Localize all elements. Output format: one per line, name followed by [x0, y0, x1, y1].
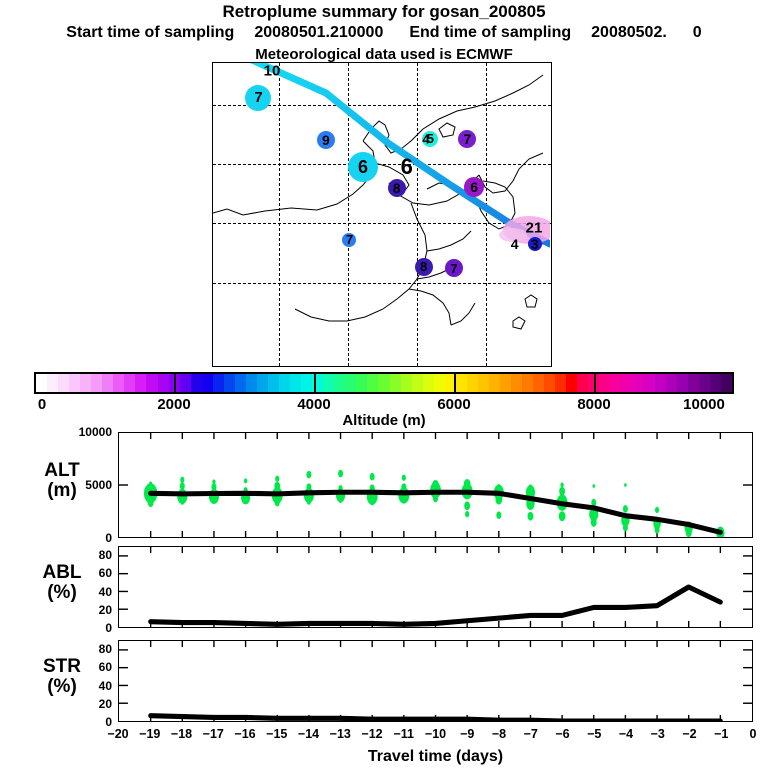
alt-ytick-5000: 5000 [85, 478, 112, 492]
alt-ytick-0: 0 [105, 531, 112, 545]
colorbar-swatch-0 [36, 374, 47, 392]
colorbar-swatch-39 [467, 374, 478, 392]
colorbar-tick-6000: 6000 [437, 396, 470, 413]
colorbar-swatch-1 [47, 374, 58, 392]
map-marker-8-5: 8 [388, 179, 406, 197]
map-marker-10-0: 10 [264, 63, 281, 78]
colorbar-swatch-20 [257, 374, 268, 392]
x-tick--14: −14 [298, 727, 319, 741]
x-tick-0: 0 [750, 727, 757, 741]
colorbar-swatch-33 [401, 374, 412, 392]
colorbar-swatch-56 [655, 374, 666, 392]
abl-panel [118, 546, 753, 628]
colorbar-swatch-28 [345, 374, 356, 392]
colorbar-swatch-54 [633, 374, 644, 392]
colorbar-swatch-60 [699, 374, 710, 392]
x-tick--19: −19 [139, 727, 160, 741]
retroplume-map: 107966854767871234 [212, 62, 552, 367]
str-ytick-20: 20 [99, 697, 112, 711]
colorbar-tick-4000: 4000 [297, 396, 330, 413]
str-panel [118, 640, 753, 722]
colorbar-swatch-10 [146, 374, 157, 392]
alt-panel [118, 432, 753, 538]
colorbar-swatch-36 [434, 374, 445, 392]
colorbar-swatch-18 [235, 374, 246, 392]
x-tick--16: −16 [234, 727, 255, 741]
abl-ytick-80: 80 [99, 548, 112, 562]
abl-ytick-0: 0 [105, 621, 112, 635]
str-axis-label: STR (%) [14, 657, 110, 697]
colorbar-swatch-3 [69, 374, 80, 392]
abl-ytick-20: 20 [99, 603, 112, 617]
colorbar-divider-1 [314, 372, 316, 394]
str-ytick-60: 60 [99, 660, 112, 674]
colorbar-swatch-26 [323, 374, 334, 392]
colorbar-swatch-45 [533, 374, 544, 392]
alt-plot-content [119, 433, 752, 537]
map-marker-6-9: 6 [464, 177, 484, 197]
colorbar-swatch-43 [511, 374, 522, 392]
colorbar-swatch-35 [423, 374, 434, 392]
colorbar-swatch-61 [710, 374, 721, 392]
colorbar-swatch-11 [158, 374, 169, 392]
map-marker-6-3: 6 [348, 152, 378, 182]
x-tick--13: −13 [330, 727, 351, 741]
colorbar-swatch-59 [688, 374, 699, 392]
end-time-label: End time of sampling [409, 24, 571, 41]
colorbar-swatch-15 [202, 374, 213, 392]
x-tick--8: −8 [492, 727, 506, 741]
colorbar-divider-2 [454, 372, 456, 394]
colorbar-swatch-5 [91, 374, 102, 392]
colorbar-swatch-57 [666, 374, 677, 392]
colorbar-swatch-16 [213, 374, 224, 392]
retroplume-summary-figure: Retroplume summary for gosan_200805 Star… [0, 0, 768, 768]
colorbar-swatch-52 [610, 374, 621, 392]
colorbar-tick-10000: 10000 [683, 396, 725, 413]
abl-ytick-60: 60 [99, 566, 112, 580]
colorbar-swatch-58 [677, 374, 688, 392]
map-marker-3-15: 3 [528, 237, 542, 251]
x-tick--4: −4 [619, 727, 633, 741]
x-tick--3: −3 [651, 727, 665, 741]
map-marker-4-7: 4 [422, 132, 429, 145]
end-time-value: 20080502. [591, 24, 667, 41]
colorbar-swatch-41 [489, 374, 500, 392]
colorbar-swatch-23 [290, 374, 301, 392]
colorbar-swatch-49 [577, 374, 588, 392]
colorbar-swatch-19 [246, 374, 257, 392]
abl-plot-content [119, 547, 752, 627]
x-tick--1: −1 [714, 727, 728, 741]
start-time-value: 20080501.210000 [254, 24, 383, 41]
colorbar-swatch-13 [180, 374, 191, 392]
x-tick--17: −17 [203, 727, 224, 741]
map-marker-4-16: 4 [511, 237, 519, 251]
colorbar-divider-3 [594, 372, 596, 394]
colorbar-swatch-17 [224, 374, 235, 392]
x-axis-title: Travel time (days) [118, 748, 753, 766]
sampling-time-line: Start time of sampling20080501.210000End… [0, 24, 768, 42]
colorbar-tick-0: 0 [38, 396, 46, 413]
x-tick--5: −5 [587, 727, 601, 741]
colorbar-swatch-34 [412, 374, 423, 392]
abl-axis-label: ABL (%) [14, 563, 110, 603]
map-marker-7-10: 7 [342, 233, 356, 247]
met-data-line: Meteorological data used is ECMWF [0, 46, 768, 63]
map-marker-6-4: 6 [401, 156, 413, 178]
colorbar-divider-0 [174, 372, 176, 394]
str-ytick-40: 40 [99, 679, 112, 693]
str-plot-content [119, 641, 752, 721]
x-tick--10: −10 [425, 727, 446, 741]
x-tick--12: −12 [361, 727, 382, 741]
x-tick--2: −2 [682, 727, 696, 741]
altitude-colorbar [34, 372, 734, 394]
x-tick--15: −15 [266, 727, 287, 741]
colorbar-title: Altitude (m) [0, 412, 768, 429]
colorbar-swatch-21 [268, 374, 279, 392]
colorbar-swatch-8 [124, 374, 135, 392]
end-time-extra: 0 [693, 24, 702, 41]
colorbar-swatch-14 [191, 374, 202, 392]
map-marker-7-1: 7 [245, 85, 271, 111]
colorbar-swatch-32 [390, 374, 401, 392]
colorbar-swatch-55 [644, 374, 655, 392]
colorbar-swatch-44 [522, 374, 533, 392]
colorbar-swatch-2 [58, 374, 69, 392]
colorbar-swatch-7 [113, 374, 124, 392]
colorbar-swatch-47 [555, 374, 566, 392]
x-tick--7: −7 [524, 727, 538, 741]
colorbar-swatch-51 [599, 374, 610, 392]
colorbar-swatch-46 [544, 374, 555, 392]
x-tick--20: −20 [107, 727, 128, 741]
start-time-label: Start time of sampling [66, 24, 234, 41]
alt-ytick-10000: 10000 [79, 425, 112, 439]
x-tick--6: −6 [555, 727, 569, 741]
map-marker-7-12: 7 [445, 259, 463, 277]
map-marker-2-14: 2 [526, 220, 534, 235]
figure-title: Retroplume summary for gosan_200805 [0, 2, 768, 22]
colorbar-swatch-42 [500, 374, 511, 392]
colorbar-swatch-9 [135, 374, 146, 392]
abl-ytick-40: 40 [99, 585, 112, 599]
colorbar-swatch-27 [334, 374, 345, 392]
colorbar-swatch-48 [566, 374, 577, 392]
colorbar-swatch-53 [621, 374, 632, 392]
colorbar-swatch-4 [80, 374, 91, 392]
str-ytick-80: 80 [99, 642, 112, 656]
x-tick--18: −18 [171, 727, 192, 741]
x-tick--9: −9 [460, 727, 474, 741]
map-marker-9-2: 9 [317, 131, 335, 149]
colorbar-swatch-22 [279, 374, 290, 392]
colorbar-swatch-38 [456, 374, 467, 392]
colorbar-swatch-40 [478, 374, 489, 392]
colorbar-tick-2000: 2000 [157, 396, 190, 413]
map-marker-8-11: 8 [415, 258, 433, 276]
map-marker-1-13: 1 [534, 220, 542, 235]
colorbar-swatch-30 [367, 374, 378, 392]
colorbar-swatch-31 [378, 374, 389, 392]
x-tick--11: −11 [393, 727, 414, 741]
colorbar-swatch-24 [301, 374, 312, 392]
colorbar-swatch-62 [721, 374, 732, 392]
colorbar-tick-8000: 8000 [577, 396, 610, 413]
map-marker-7-8: 7 [458, 130, 476, 148]
colorbar-swatch-6 [102, 374, 113, 392]
colorbar-swatch-29 [356, 374, 367, 392]
